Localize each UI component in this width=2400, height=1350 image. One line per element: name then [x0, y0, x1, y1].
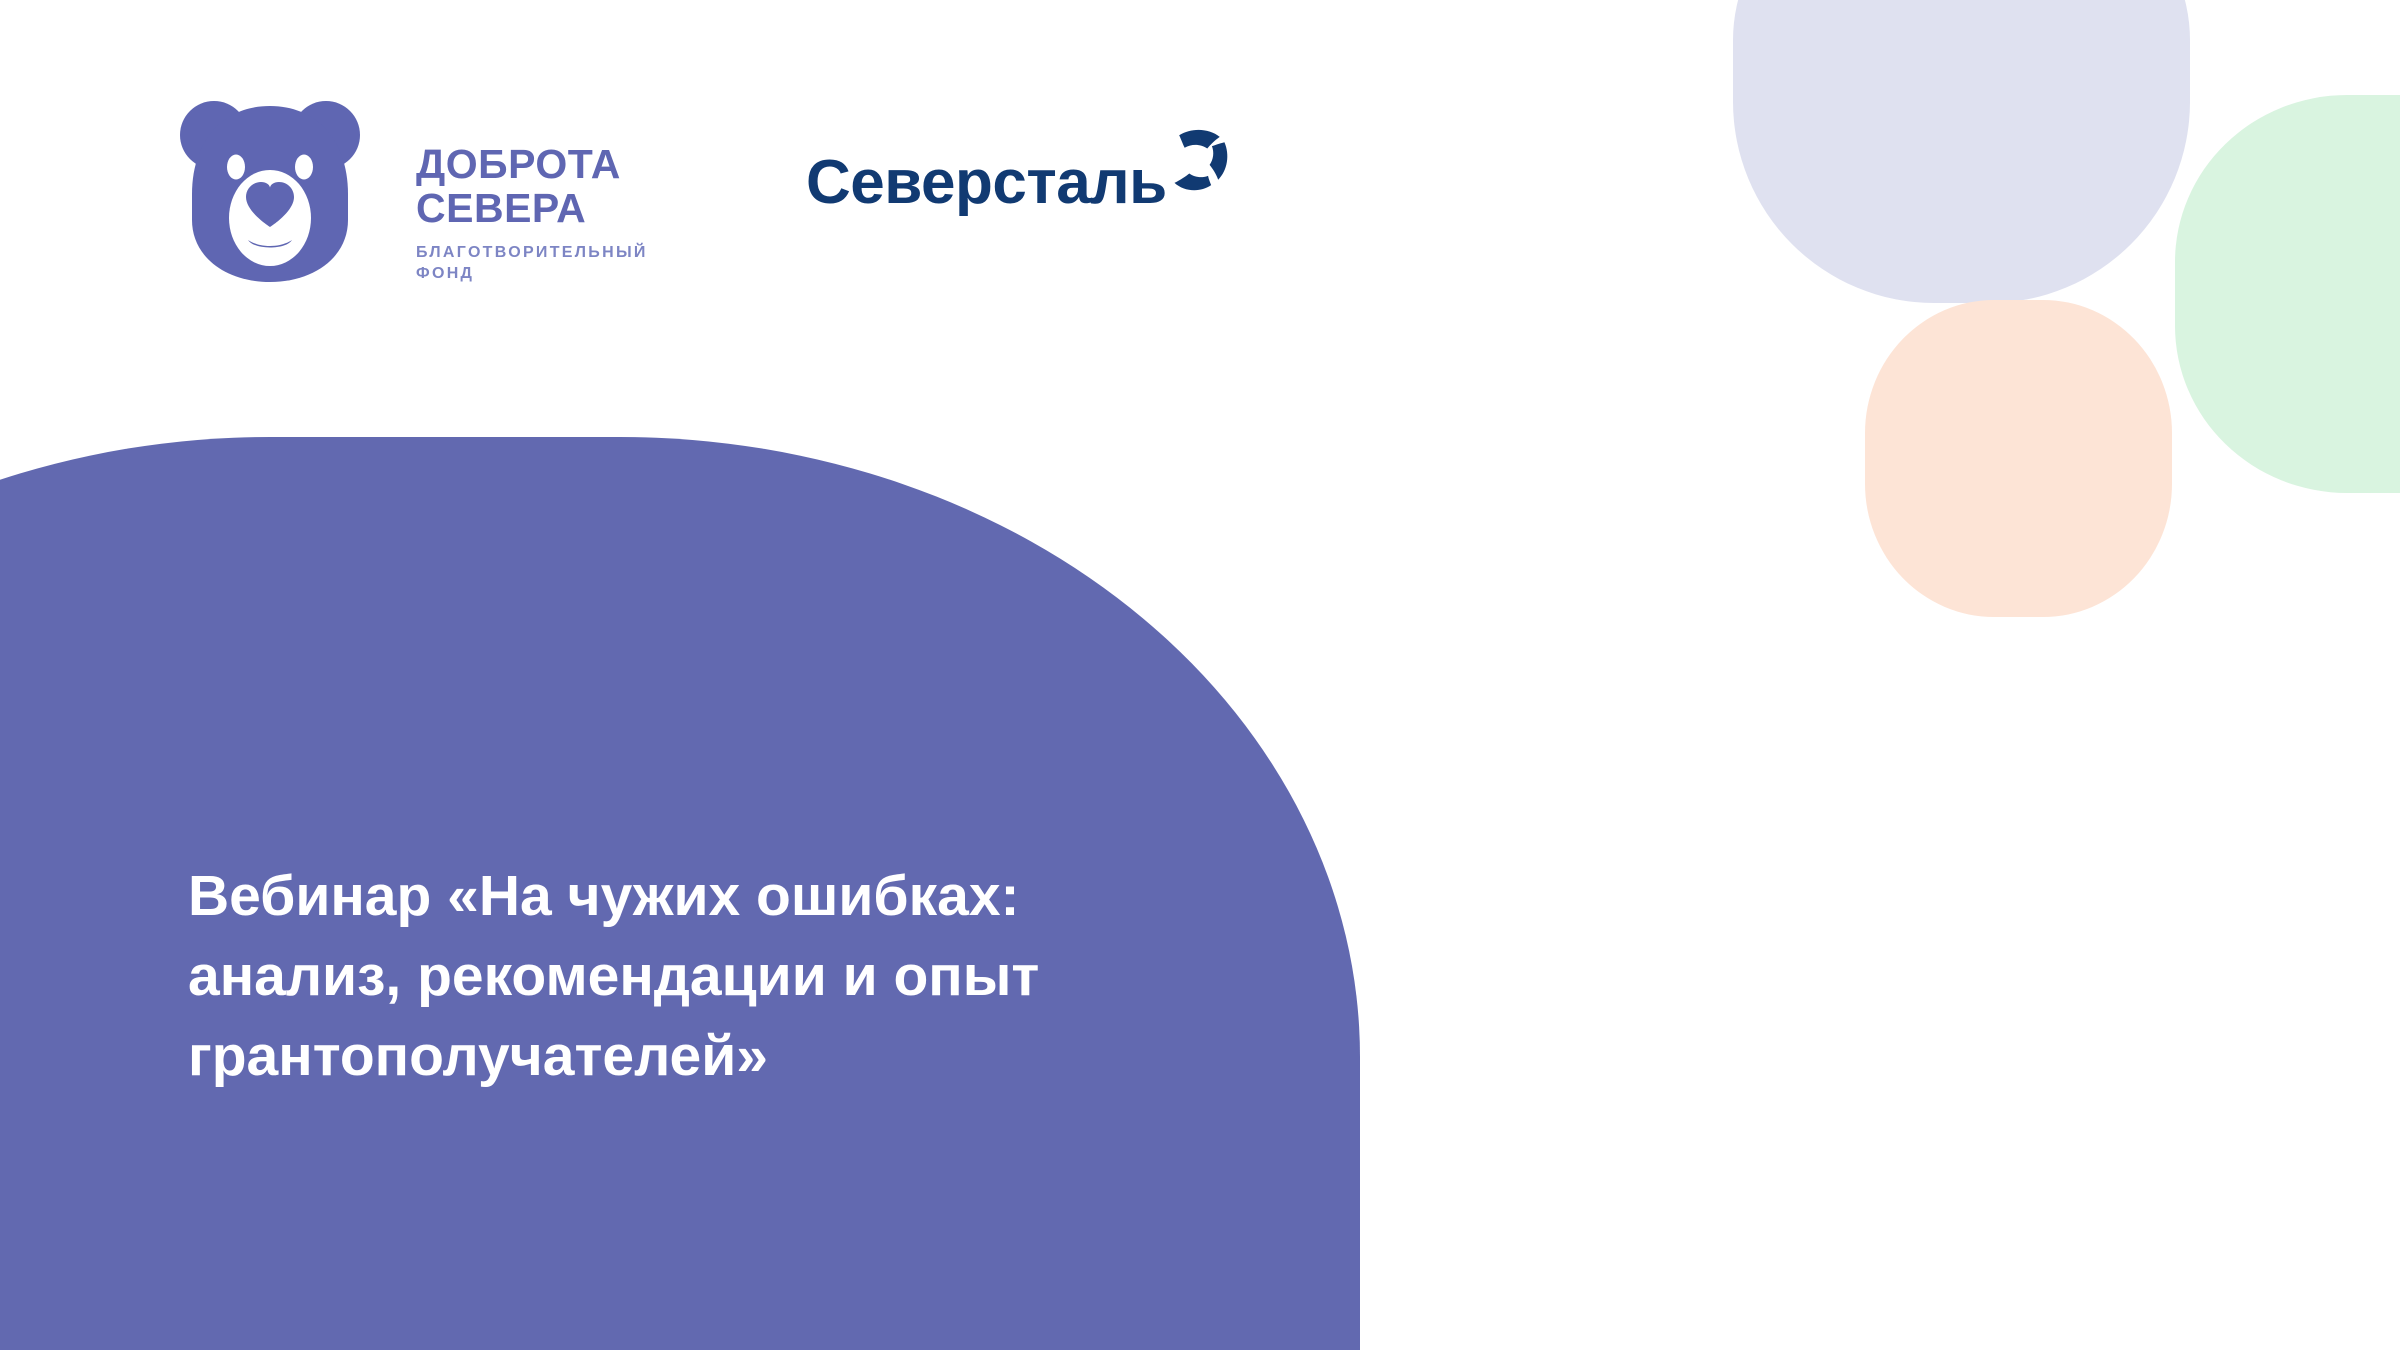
fund-name-line-1: ДОБРОТА	[416, 142, 648, 186]
peach-squircle-decoration	[1865, 300, 2172, 617]
severstal-logo: Северсталь	[806, 122, 1233, 214]
severstal-wordmark: Северсталь	[806, 152, 1167, 214]
fund-logo-lockup: ДОБРОТА СЕВЕРА БЛАГОТВОРИТЕЛЬНЫЙ ФОНД	[178, 90, 648, 286]
fund-subtitle-line-2: ФОНД	[416, 263, 648, 284]
presentation-slide: ДОБРОТА СЕВЕРА БЛАГОТВОРИТЕЛЬНЫЙ ФОНД Се…	[0, 0, 2400, 1350]
bear-logo-icon	[178, 90, 362, 286]
fund-subtitle-line-1: БЛАГОТВОРИТЕЛЬНЫЙ	[416, 242, 648, 263]
dobrota-severa-logo: ДОБРОТА СЕВЕРА БЛАГОТВОРИТЕЛЬНЫЙ ФОНД	[178, 90, 648, 286]
page-title: Вебинар «На чужих ошибках: анализ, реком…	[188, 856, 1198, 1096]
lavender-squircle-decoration	[1733, 0, 2190, 303]
severstal-swirl-icon	[1155, 122, 1233, 200]
fund-wordmark: ДОБРОТА СЕВЕРА БЛАГОТВОРИТЕЛЬНЫЙ ФОНД	[416, 90, 648, 284]
green-squircle-decoration	[2175, 95, 2400, 493]
fund-name-line-2: СЕВЕРА	[416, 186, 648, 230]
